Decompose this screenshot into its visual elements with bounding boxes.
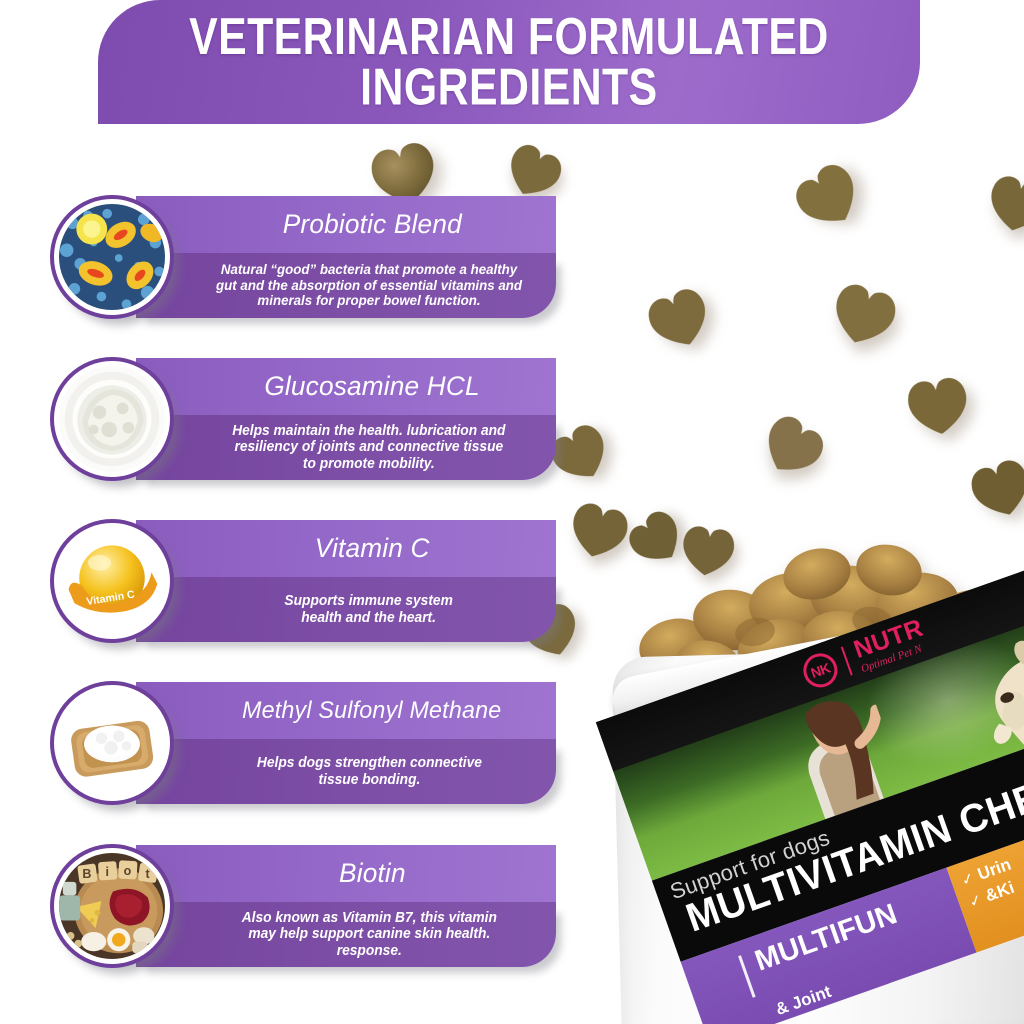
benefit-secondary: & Joint xyxy=(773,982,834,1020)
ingredient-description: Supports immune system health and the he… xyxy=(285,593,453,625)
msm-powder-wooden-dish-icon xyxy=(50,681,174,805)
infographic-canvas: NK NUTR Optimal Pet N xyxy=(0,0,1024,1024)
icon-image xyxy=(59,366,165,472)
ingredient-description: Helps dogs strengthen connective tissue … xyxy=(256,755,481,787)
ingredient-description: Natural “good” bacteria that promote a h… xyxy=(216,262,522,309)
header-banner: VETERINARIAN FORMULATED INGREDIENTS xyxy=(98,0,920,124)
product-jar: NK NUTR Optimal Pet N xyxy=(585,470,1024,1024)
card-body-band: Supports immune system health and the he… xyxy=(136,577,556,642)
ingredient-card-methyl-sulfonyl-methane[interactable]: Methyl Sulfonyl Methane Helps dogs stren… xyxy=(136,682,556,804)
check-icon: ✓ xyxy=(967,890,985,911)
svg-text:i: i xyxy=(105,865,108,879)
ingredient-card-probiotic-blend[interactable]: Probiotic Blend Natural “good” bacteria … xyxy=(136,196,556,318)
card-title-band: Biotin xyxy=(136,845,556,902)
strip-divider xyxy=(738,955,756,997)
glucosamine-powder-bowl-icon xyxy=(50,357,174,481)
card-body-band: Helps maintain the health. lubrication a… xyxy=(136,415,556,480)
card-title-band: Methyl Sulfonyl Methane xyxy=(136,682,556,739)
ingredient-title: Biotin xyxy=(339,858,406,889)
card-title-band: Probiotic Blend xyxy=(136,196,556,253)
ingredient-title: Vitamin C xyxy=(315,533,430,564)
probiotic-bacteria-micrograph-icon xyxy=(50,195,174,319)
chew-treat xyxy=(900,370,976,441)
ingredient-description: Also known as Vitamin B7, this vitamin m… xyxy=(241,910,496,959)
ingredient-title: Glucosamine HCL xyxy=(264,371,479,402)
ingredient-description: Helps maintain the health. lubrication a… xyxy=(232,423,505,472)
page-title: VETERINARIAN FORMULATED INGREDIENTS xyxy=(167,12,851,113)
card-body-band: Natural “good” bacteria that promote a h… xyxy=(136,253,556,318)
chew-treat xyxy=(782,151,874,242)
svg-text:o: o xyxy=(124,864,132,878)
biotin-food-board-icon: B i o t xyxy=(50,844,174,968)
ingredient-card-biotin[interactable]: Biotin Also known as Vitamin B7, this vi… xyxy=(136,845,556,967)
icon-image: Vitamin C xyxy=(59,528,165,634)
icon-image: B i o t xyxy=(59,853,165,959)
ingredient-card-vitamin-c[interactable]: Vitamin C Supports immune system health … xyxy=(136,520,556,642)
ingredient-title: Methyl Sulfonyl Methane xyxy=(242,697,501,725)
card-title-band: Vitamin C xyxy=(136,520,556,577)
chew-treat xyxy=(980,167,1024,239)
brand-divider xyxy=(841,647,853,676)
card-body-band: Also known as Vitamin B7, this vitamin m… xyxy=(136,902,556,967)
svg-text:B: B xyxy=(82,867,91,881)
check-icon: ✓ xyxy=(959,869,977,890)
icon-image xyxy=(59,690,165,796)
ingredient-title: Probiotic Blend xyxy=(282,209,461,240)
nk-logo-icon: NK xyxy=(799,649,842,692)
card-body-band: Helps dogs strengthen connective tissue … xyxy=(136,739,556,804)
chew-treat xyxy=(821,273,906,355)
icon-image xyxy=(59,204,165,310)
chew-treat xyxy=(637,277,721,358)
card-title-band: Glucosamine HCL xyxy=(136,358,556,415)
ingredient-card-glucosamine-hcl[interactable]: Glucosamine HCL Helps maintain the healt… xyxy=(136,358,556,480)
vitamin-c-sphere-ribbon-icon: Vitamin C xyxy=(50,519,174,643)
